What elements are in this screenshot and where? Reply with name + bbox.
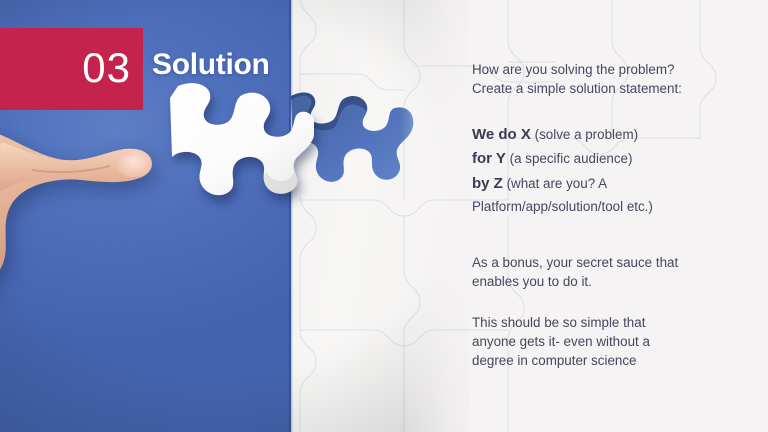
bonus-block: As a bonus, your secret sauce that enabl… (472, 253, 758, 291)
bonus-line-2: enables you to do it. (472, 272, 758, 291)
formula-light-3: (what are you? A (503, 176, 607, 191)
simplicity-line-2: anyone gets it- even without a (472, 332, 758, 351)
section-number-band: 03 (0, 28, 143, 110)
body-text-panel: How are you solving the problem? Create … (470, 0, 768, 432)
formula-line-3: by Z (what are you? A (472, 173, 758, 194)
step-number: 03 (82, 47, 131, 89)
formula-strong-3: by Z (472, 175, 503, 192)
formula-line-1: We do X (solve a problem) (472, 124, 758, 145)
formula-line-2: for Y (a specific audience) (472, 148, 758, 169)
formula-block: We do X (solve a problem) for Y (a speci… (472, 124, 758, 216)
simplicity-block: This should be so simple that anyone get… (472, 313, 758, 370)
formula-light-2: (a specific audience) (506, 151, 633, 166)
formula-strong-2: for Y (472, 150, 506, 167)
intro-line-1: How are you solving the problem? (472, 60, 758, 79)
puzzle-field-edge (289, 0, 293, 432)
formula-light-1: (solve a problem) (531, 127, 638, 142)
simplicity-line-1: This should be so simple that (472, 313, 758, 332)
slide-canvas: 03 Solution How are you solving the prob… (0, 0, 768, 432)
formula-wrap-line: Platform/app/solution/tool etc.) (472, 197, 758, 216)
pointing-hand (0, 96, 202, 336)
white-puzzle-field (291, 0, 470, 432)
intro-block: How are you solving the problem? Create … (472, 60, 758, 98)
page-title: Solution (152, 50, 270, 80)
intro-line-2: Create a simple solution statement: (472, 79, 758, 98)
simplicity-line-3: degree in computer science (472, 351, 758, 370)
bonus-line-1: As a bonus, your secret sauce that (472, 253, 758, 272)
formula-strong-1: We do X (472, 126, 531, 143)
